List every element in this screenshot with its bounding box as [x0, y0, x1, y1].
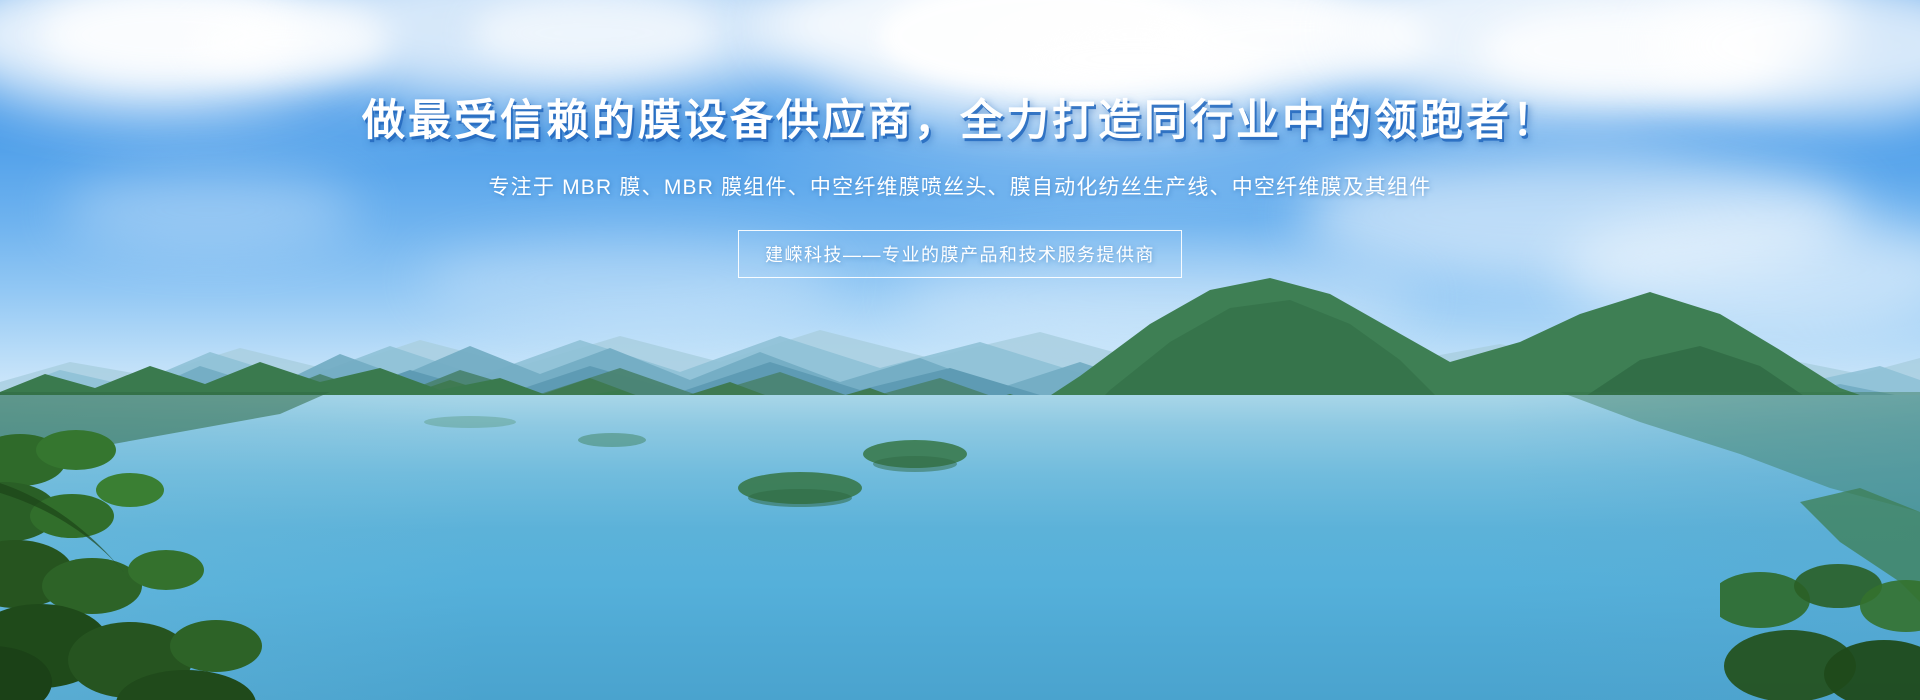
tagline-container: 建嵘科技——专业的膜产品和技术服务提供商 [0, 230, 1920, 278]
page-subtitle: 专注于 MBR 膜、MBR 膜组件、中空纤维膜喷丝头、膜自动化纺丝生产线、中空纤… [0, 173, 1920, 202]
hero-copy-block: 做最受信赖的膜设备供应商，全力打造同行业中的领跑者！ 专注于 MBR 膜、MBR… [0, 96, 1920, 278]
hero-banner: 做最受信赖的膜设备供应商，全力打造同行业中的领跑者！ 专注于 MBR 膜、MBR… [0, 0, 1920, 700]
page-title: 做最受信赖的膜设备供应商，全力打造同行业中的领跑者！ [0, 96, 1920, 147]
tagline-badge: 建嵘科技——专业的膜产品和技术服务提供商 [738, 230, 1182, 278]
